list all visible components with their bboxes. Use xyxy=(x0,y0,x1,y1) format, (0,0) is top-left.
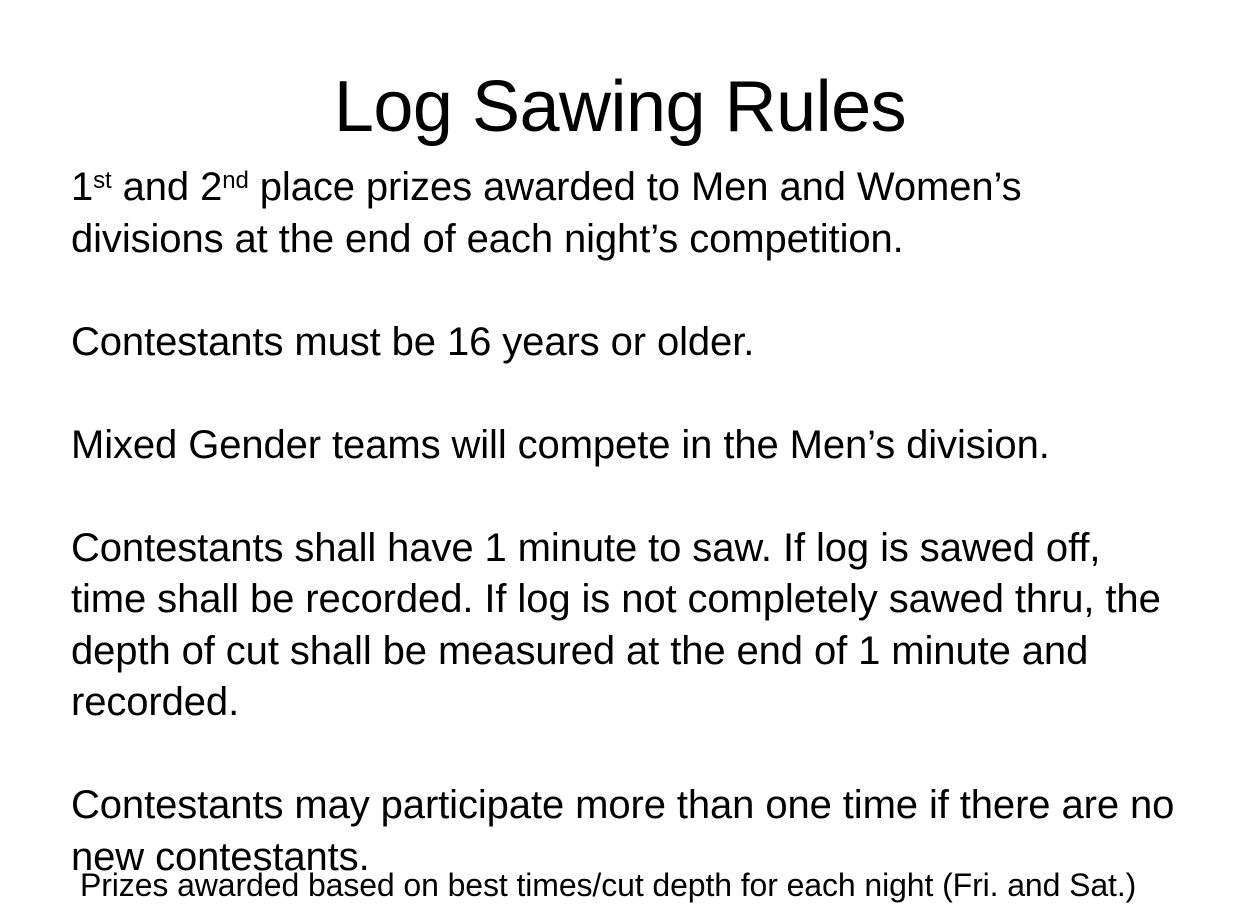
paragraph-timing-rules: Contestants shall have 1 minute to saw. … xyxy=(71,523,1181,729)
paragraph-age-requirement: Contestants must be 16 years or older. xyxy=(71,317,1181,369)
paragraph-prizes-divisions: 1st and 2nd place prizes awarded to Men … xyxy=(71,162,1181,265)
paragraph-mixed-gender: Mixed Gender teams will compete in the M… xyxy=(71,420,1181,472)
slide-body: 1st and 2nd place prizes awarded to Men … xyxy=(71,122,1181,923)
ordinal-second-suffix: nd xyxy=(222,167,249,194)
slide-canvas: Log Sawing Rules 1st and 2nd place prize… xyxy=(0,0,1240,921)
ordinal-conjunction: and 2 xyxy=(112,165,223,209)
ordinal-first-suffix: st xyxy=(93,167,111,194)
ordinal-first-number: 1 xyxy=(71,165,93,209)
footer-note: Prizes awarded based on best times/cut d… xyxy=(80,866,1200,904)
